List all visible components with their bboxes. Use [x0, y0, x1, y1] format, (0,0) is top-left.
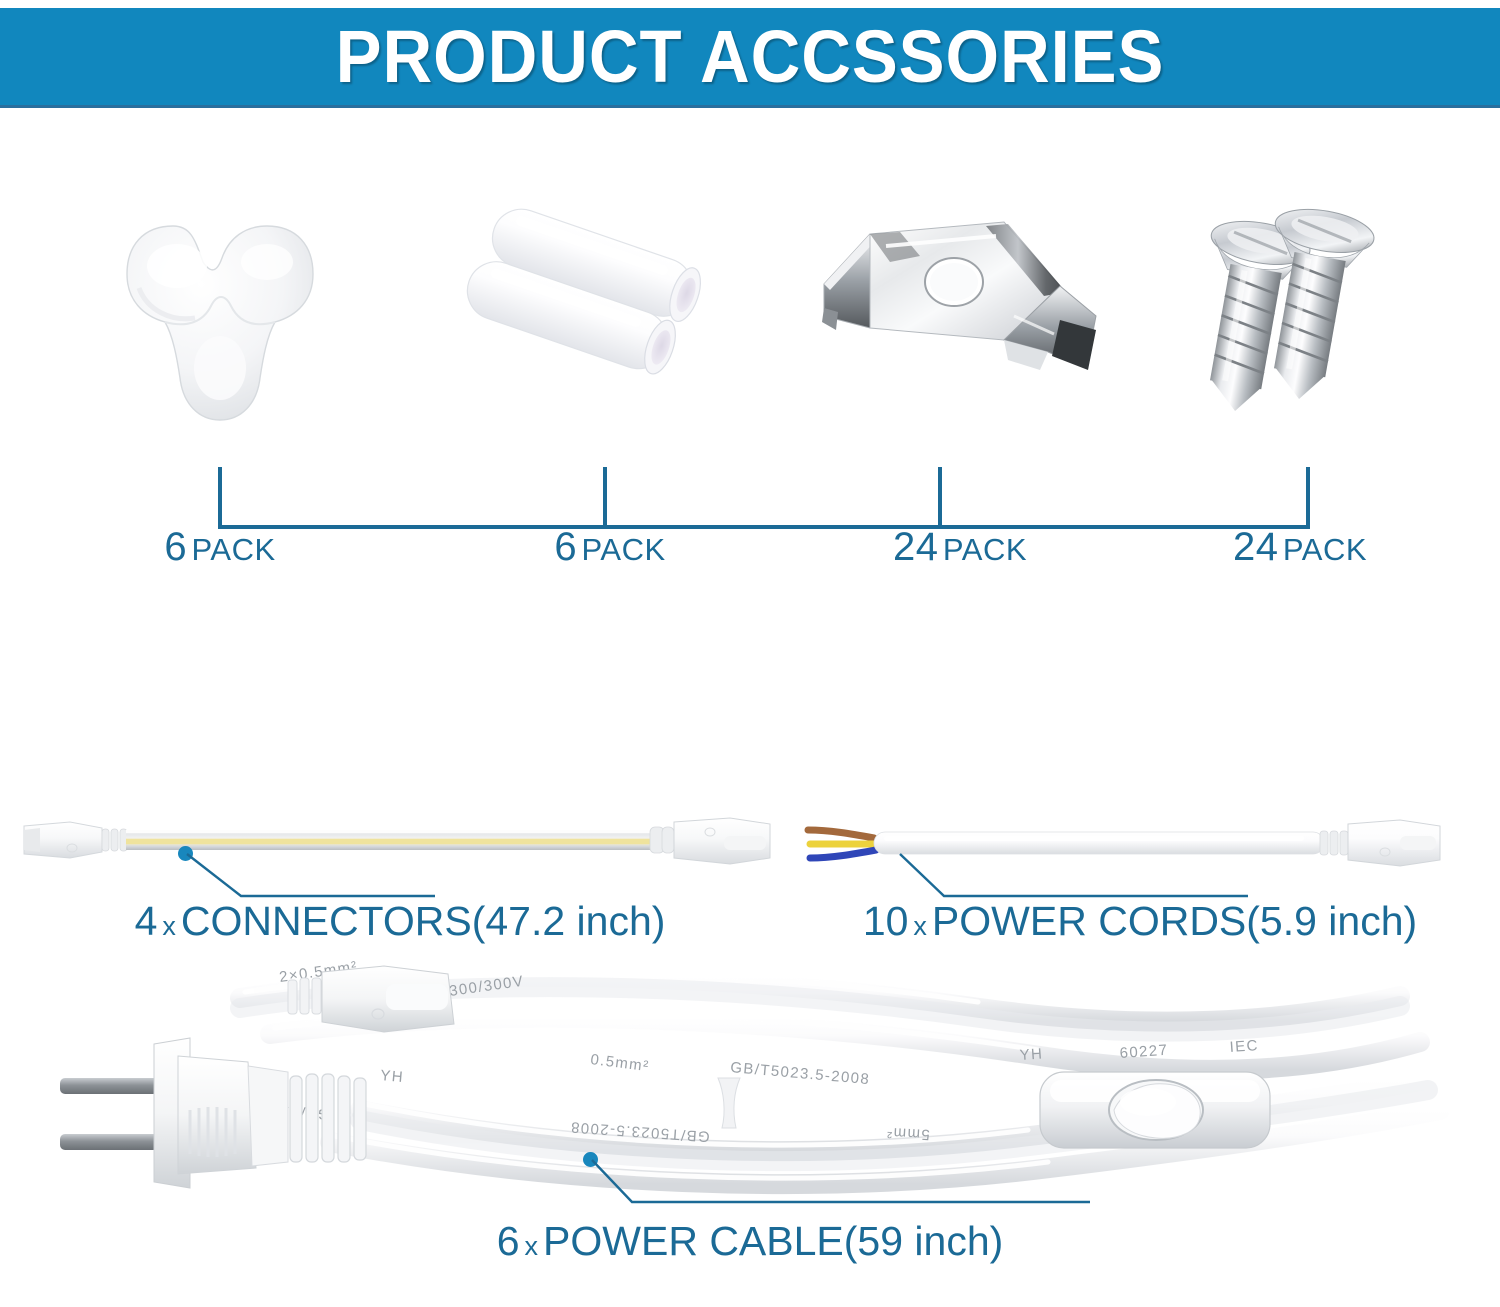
power-cable-name: POWER CABLE(59 inch) [543, 1218, 1003, 1264]
part-label-4: 24 PACK [1130, 525, 1470, 570]
screws-icon [1130, 200, 1470, 450]
svg-text:YH: YH [1019, 1045, 1044, 1064]
inline-switch [1040, 1072, 1270, 1148]
power-cord-name: POWER CORDS(5.9 inch) [932, 898, 1417, 944]
page-title: PRODUCT ACCSSORIES [53, 8, 1448, 105]
power-cable-caption: 6xPOWER CABLE(59 inch) [400, 1218, 1100, 1265]
part-qty-2: 6 [554, 525, 577, 569]
svg-text:60227: 60227 [1119, 1042, 1169, 1062]
power-cable-multiplier: x [520, 1231, 544, 1261]
three-lobed-clip-icon [50, 200, 390, 450]
connector-cable-caption: 4xCONNECTORS(47.2 inch) [60, 898, 740, 945]
svg-text:5mm²: 5mm² [885, 1124, 930, 1143]
svg-text:YH: YH [380, 1067, 405, 1086]
power-cable-qty: 6 [497, 1218, 520, 1264]
part-qty-3: 24 [893, 525, 939, 569]
power-cord-multiplier: x [908, 911, 932, 941]
cable-marking-standard: GB/T5023.5-2008 [730, 1059, 871, 1088]
svg-text:0.5mm²: 0.5mm² [590, 1051, 651, 1075]
header-banner: PRODUCT ACCSSORIES [0, 8, 1500, 108]
tube-connector-icon [440, 200, 780, 450]
part-cell-three-lobed-clip: 6 PACK [50, 200, 390, 620]
part-unit-4: PACK [1283, 532, 1367, 567]
part-qty-1: 6 [164, 525, 187, 569]
part-unit-1: PACK [192, 532, 276, 567]
bracket-horizontal-rule [218, 525, 1310, 529]
part-label-2: 6 PACK [440, 525, 780, 570]
metal-bracket-clip-icon [790, 200, 1130, 450]
cable-tie [718, 1078, 740, 1128]
part-unit-3: PACK [943, 532, 1027, 567]
power-cord-caption: 10xPOWER CORDS(5.9 inch) [790, 898, 1490, 945]
connector-multiplier: x [157, 911, 181, 941]
part-label-3: 24 PACK [790, 525, 1130, 570]
part-cell-metal-bracket: 24 PACK [790, 200, 1130, 620]
bracket-tick-1 [218, 467, 222, 529]
svg-text:IEC: IEC [1229, 1037, 1259, 1056]
connector-qty: 4 [135, 898, 158, 944]
parts-row: 6 PACK [0, 200, 1500, 620]
power-cord-qty: 10 [863, 898, 909, 944]
part-qty-4: 24 [1233, 525, 1279, 569]
connector-name: CONNECTORS(47.2 inch) [181, 898, 666, 944]
bracket-tick-3 [938, 467, 942, 529]
part-cell-screws: 24 PACK [1130, 200, 1470, 620]
cable-row-upper: 4xCONNECTORS(47.2 inch) 10x [0, 780, 1500, 970]
part-cell-tube-connector: 6 PACK [440, 200, 780, 620]
bracket-tick-2 [603, 467, 607, 529]
part-label-1: 6 PACK [50, 525, 390, 570]
bracket-tick-4 [1306, 467, 1310, 529]
part-unit-2: PACK [582, 532, 666, 567]
cable-row-power-cable: 300/300V 2×0.5mm² 0.5mm² GB/T5023.5-2008… [0, 960, 1500, 1307]
